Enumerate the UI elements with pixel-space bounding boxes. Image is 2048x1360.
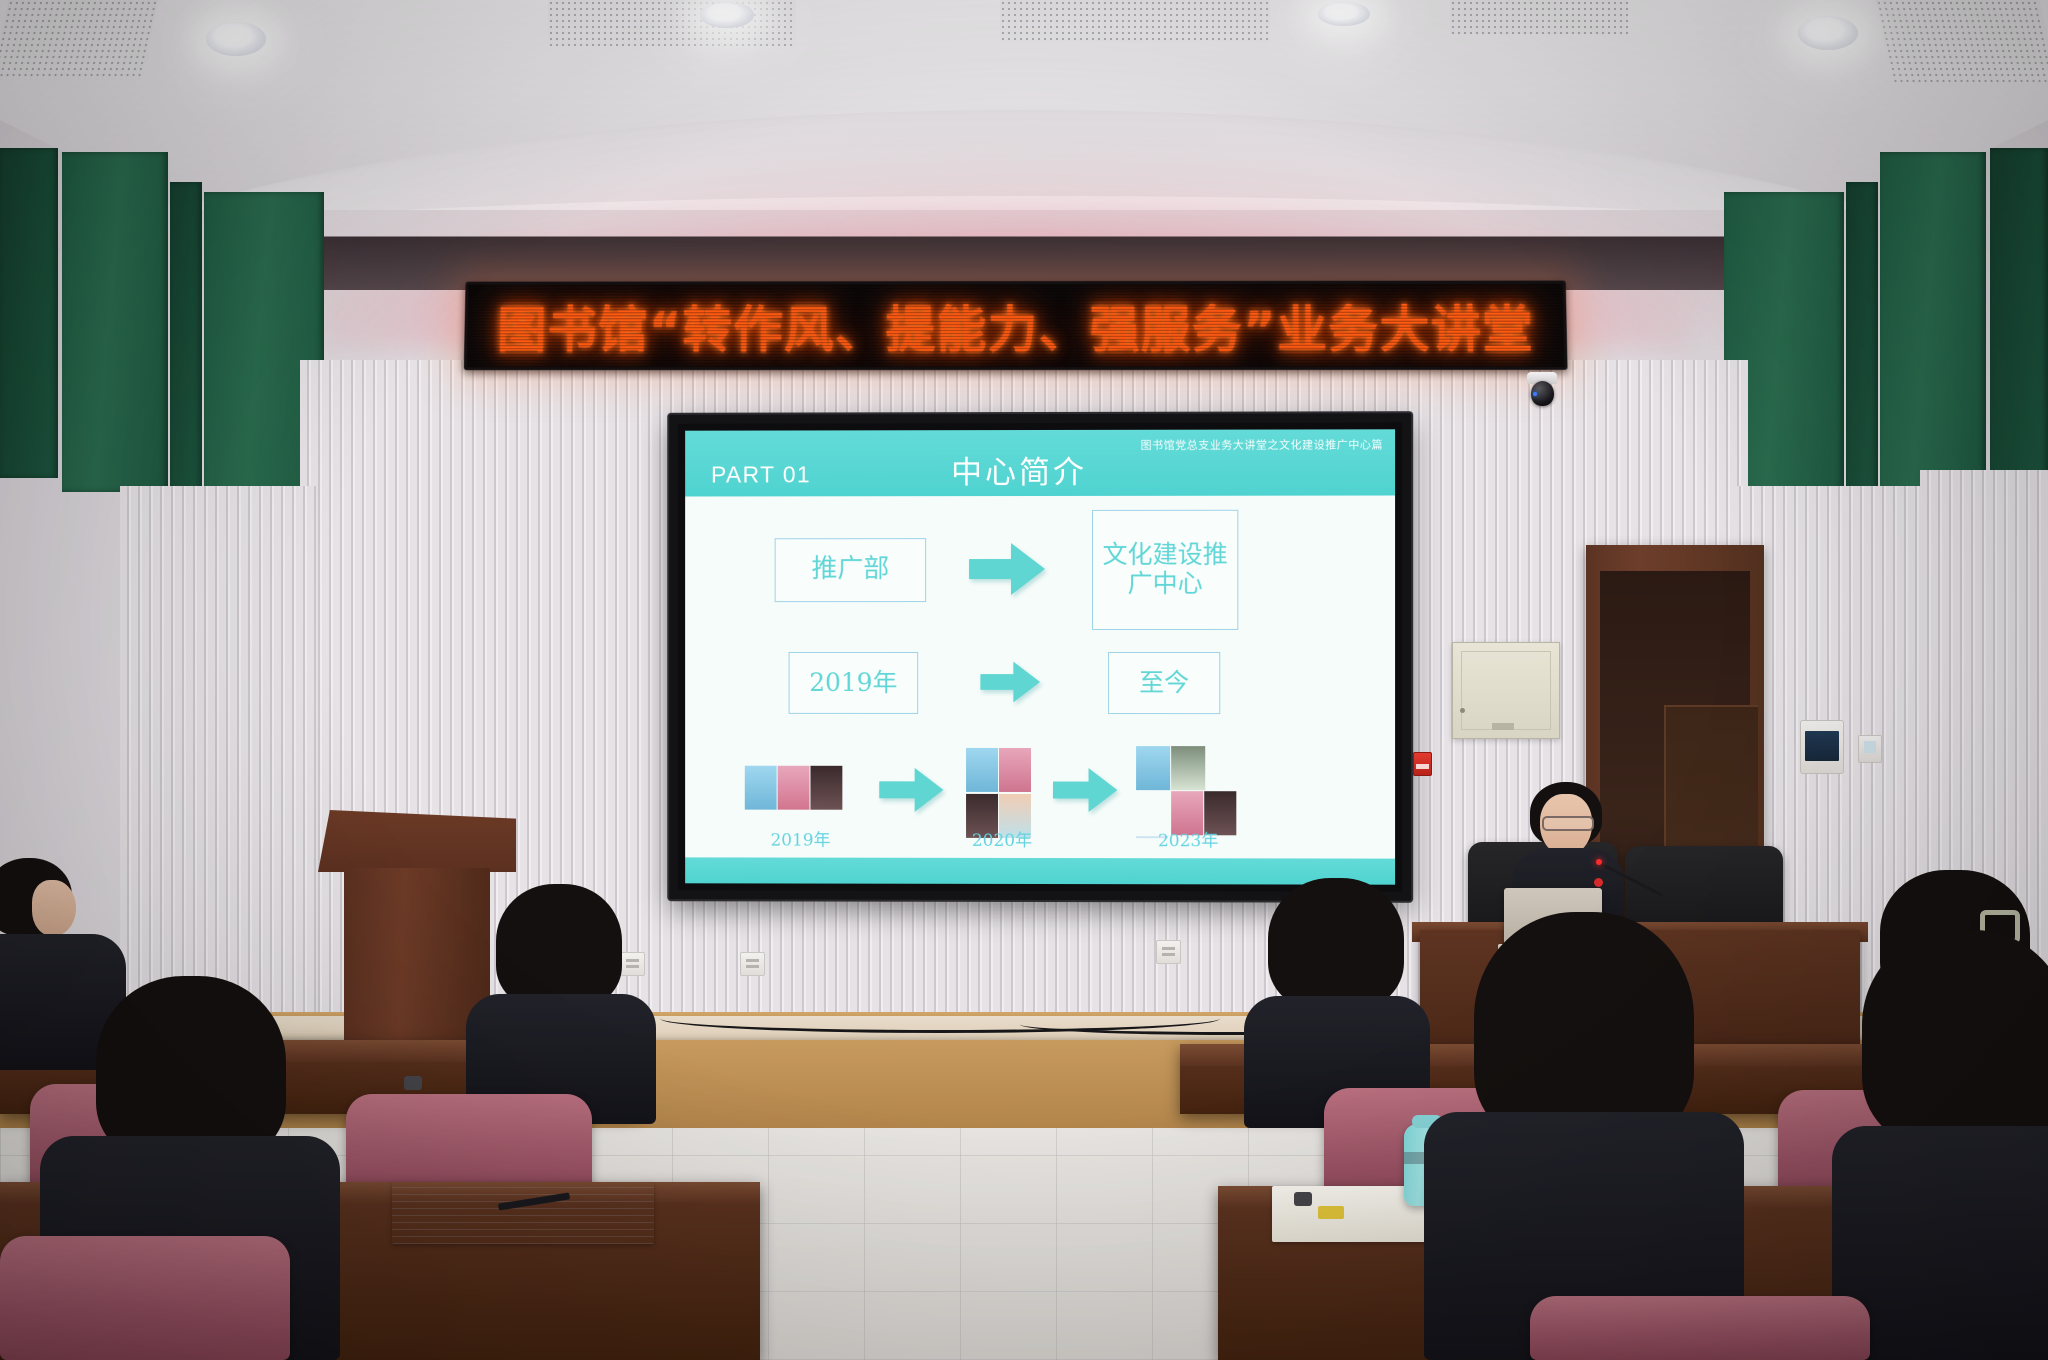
ceiling-downlight-3 <box>1318 2 1370 26</box>
flow-arrow-top-icon <box>964 538 1052 600</box>
notebook-left <box>392 1182 654 1244</box>
audience-member-front-right <box>1852 930 2048 1360</box>
hair <box>1474 912 1694 1142</box>
timeline-arrow-1-icon <box>876 764 948 816</box>
thumb <box>999 748 1031 792</box>
ceiling-vent-2 <box>548 0 796 46</box>
green-panel-left-3 <box>170 182 202 512</box>
timeline-thumbs-2020 <box>966 748 1034 838</box>
presentation-slide: 图书馆党总支业务大讲堂之文化建设推广中心篇 PART 01 中心简介 推广部 文… <box>685 429 1395 884</box>
ceiling-vent-4 <box>1450 0 1628 34</box>
keys-right <box>1294 1192 1312 1206</box>
thumb <box>1171 746 1205 790</box>
hair <box>496 884 622 1008</box>
wall-outlet-3[interactable] <box>1156 940 1181 964</box>
ceiling-downlight-4 <box>1798 16 1858 50</box>
flow-arrow-bottom-icon <box>976 656 1046 708</box>
flow-box-to-top: 文化建设推广中心 <box>1092 510 1238 630</box>
hair <box>96 976 286 1162</box>
slide-title: 中心简介 <box>685 446 1395 492</box>
lecture-hall-scene: 图书馆“转作风、提能力、强服务”业务大讲堂 图书馆党总支业务大讲堂之文化建设推广… <box>0 0 2048 1360</box>
ceiling-downlight-1 <box>206 22 266 56</box>
timeline-year-2023: 2023年 <box>1124 826 1252 851</box>
acoustic-wall-left <box>120 486 316 1042</box>
timeline-year-2019: 2019年 <box>737 826 864 851</box>
slide-header: 图书馆党总支业务大讲堂之文化建设推广中心篇 PART 01 中心简介 <box>685 429 1395 496</box>
keys-left <box>404 1076 422 1090</box>
green-panel-left-2 <box>62 152 168 492</box>
ceiling-downlight-2 <box>700 2 754 28</box>
timeline-arrow-2-icon <box>1050 764 1122 816</box>
fire-alarm-pull-station[interactable] <box>1413 752 1432 776</box>
ceiling-vent-3 <box>1000 0 1270 42</box>
flow-box-from-top: 推广部 <box>775 538 926 602</box>
green-panel-right-3 <box>1880 152 1986 492</box>
ceiling-vent-1 <box>0 0 159 80</box>
led-banner-text: 图书馆“转作风、提能力、强服务”业务大讲堂 <box>496 289 1534 362</box>
projection-screen[interactable]: 图书馆党总支业务大讲堂之文化建设推广中心篇 PART 01 中心简介 推广部 文… <box>669 413 1411 901</box>
thumb <box>1136 746 1170 790</box>
timeline-year-2020: 2020年 <box>938 826 1066 851</box>
presenter-glasses-icon <box>1542 816 1594 831</box>
chair-front-2[interactable] <box>1530 1296 1870 1360</box>
face <box>32 880 76 936</box>
camera-status-led-icon <box>1533 392 1537 396</box>
green-panel-left-1 <box>0 148 58 478</box>
hair <box>1268 878 1404 1010</box>
hair <box>1862 930 2048 1146</box>
audience-member-back-center <box>466 884 656 1124</box>
ceiling-vent-5 <box>1875 0 2048 82</box>
slide-body: 推广部 文化建设推广中心 2019年 至今 <box>685 495 1395 858</box>
flow-box-from-bottom: 2019年 <box>789 652 919 714</box>
touch-panel-screen[interactable] <box>1805 731 1839 761</box>
thumb <box>745 766 777 810</box>
flow-box-to-bottom: 至今 <box>1108 652 1220 714</box>
thumb <box>966 748 998 792</box>
panel-lock-icon <box>1460 708 1465 713</box>
microphone-led-icon <box>1596 859 1602 865</box>
thumb <box>810 766 842 810</box>
chair-front-1[interactable] <box>0 1236 290 1360</box>
lectern-top <box>318 810 516 872</box>
panel-label-plate <box>1492 723 1514 730</box>
led-banner-sign: 图书馆“转作风、提能力、强服务”业务大讲堂 <box>464 281 1568 371</box>
green-panel-right-4 <box>1990 148 2048 478</box>
audience-member-front-center <box>1424 912 1744 1360</box>
wall-outlet-2[interactable] <box>740 952 765 976</box>
usb-tag <box>1318 1206 1344 1219</box>
timeline-thumbs-2019 <box>745 766 855 812</box>
light-switch[interactable] <box>1858 735 1882 763</box>
thumb <box>778 766 810 810</box>
green-panel-right-2 <box>1846 182 1878 512</box>
presenter-badge <box>1594 878 1603 887</box>
timeline-thumbs-2023 <box>1136 746 1238 838</box>
av-touch-panel[interactable] <box>1800 720 1844 774</box>
